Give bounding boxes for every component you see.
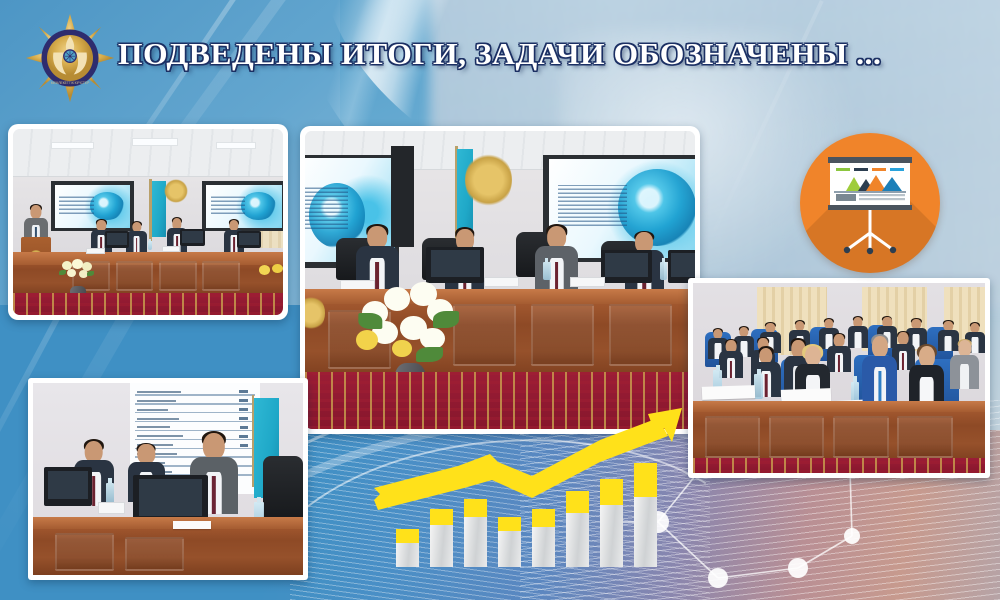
flipchart-glyph	[800, 133, 940, 273]
growth-bar-chart	[396, 442, 696, 567]
photo-center	[300, 126, 700, 434]
trend-arrow-icon	[372, 414, 702, 564]
photo-center-scene	[305, 131, 695, 429]
photo-top-left	[8, 124, 288, 320]
emblem-ring-text: МЕМЛЕКЕТТІК КІРІСТЕР	[51, 81, 90, 85]
photo-right	[688, 278, 990, 478]
presentation-board-icon	[800, 133, 940, 273]
photo-bottom-left	[28, 378, 308, 580]
photo-top-left-scene	[13, 129, 283, 315]
photo-right-scene	[693, 283, 985, 473]
page-title: ПОДВЕДЕНЫ ИТОГИ, ЗАДАЧИ ОБОЗНАЧЕНЫ ...	[118, 36, 944, 72]
banner-header: ​ МЕМЛЕКЕТТІК КІРІСТЕР ПОДВЕДЕНЫ ИТОГИ, …	[0, 0, 1000, 112]
banner-root: ​ МЕМЛЕКЕТТІК КІРІСТЕР ПОДВЕДЕНЫ ИТОГИ, …	[0, 0, 1000, 600]
state-emblem-icon: ​ МЕМЛЕКЕТТІК КІРІСТЕР	[24, 12, 116, 104]
photo-bottom-left-scene	[33, 383, 303, 575]
